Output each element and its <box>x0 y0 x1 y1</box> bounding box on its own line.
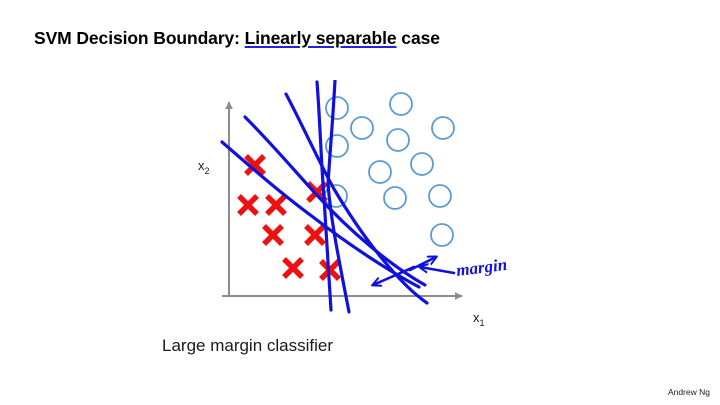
circle-marker <box>369 161 391 183</box>
circle-marker <box>431 224 453 246</box>
attribution-text: Andrew Ng <box>668 387 710 397</box>
margin-label-group: margin <box>455 255 508 280</box>
circle-marker <box>326 97 348 119</box>
page-title: SVM Decision Boundary: Linearly separabl… <box>34 28 440 49</box>
plot-svg: margin x2 x1 <box>190 80 530 330</box>
slide-canvas: SVM Decision Boundary: Linearly separabl… <box>0 0 720 405</box>
circle-marker <box>411 153 433 175</box>
circle-marker <box>432 117 454 139</box>
x-marker <box>264 226 282 244</box>
circle-marker <box>429 185 451 207</box>
circle-marker <box>387 129 409 151</box>
margin-pointer-arrow <box>420 267 454 273</box>
svm-scatter-plot: margin x2 x1 <box>190 80 530 330</box>
title-prefix: SVM Decision Boundary: <box>34 28 245 48</box>
circle-marker <box>384 187 406 209</box>
x-marker <box>267 196 285 214</box>
circle-marker <box>390 93 412 115</box>
circle-marker <box>351 117 373 139</box>
margin-label: margin <box>455 255 508 280</box>
x-marker <box>239 196 257 214</box>
x-axis-label: x1 <box>473 310 485 328</box>
x-marker <box>306 226 324 244</box>
title-suffix: case <box>397 28 440 48</box>
slide-caption: Large margin classifier <box>162 336 333 356</box>
x-marker <box>284 259 302 277</box>
y-axis-label: x2 <box>198 158 210 176</box>
title-emphasis: Linearly separable <box>245 28 397 48</box>
